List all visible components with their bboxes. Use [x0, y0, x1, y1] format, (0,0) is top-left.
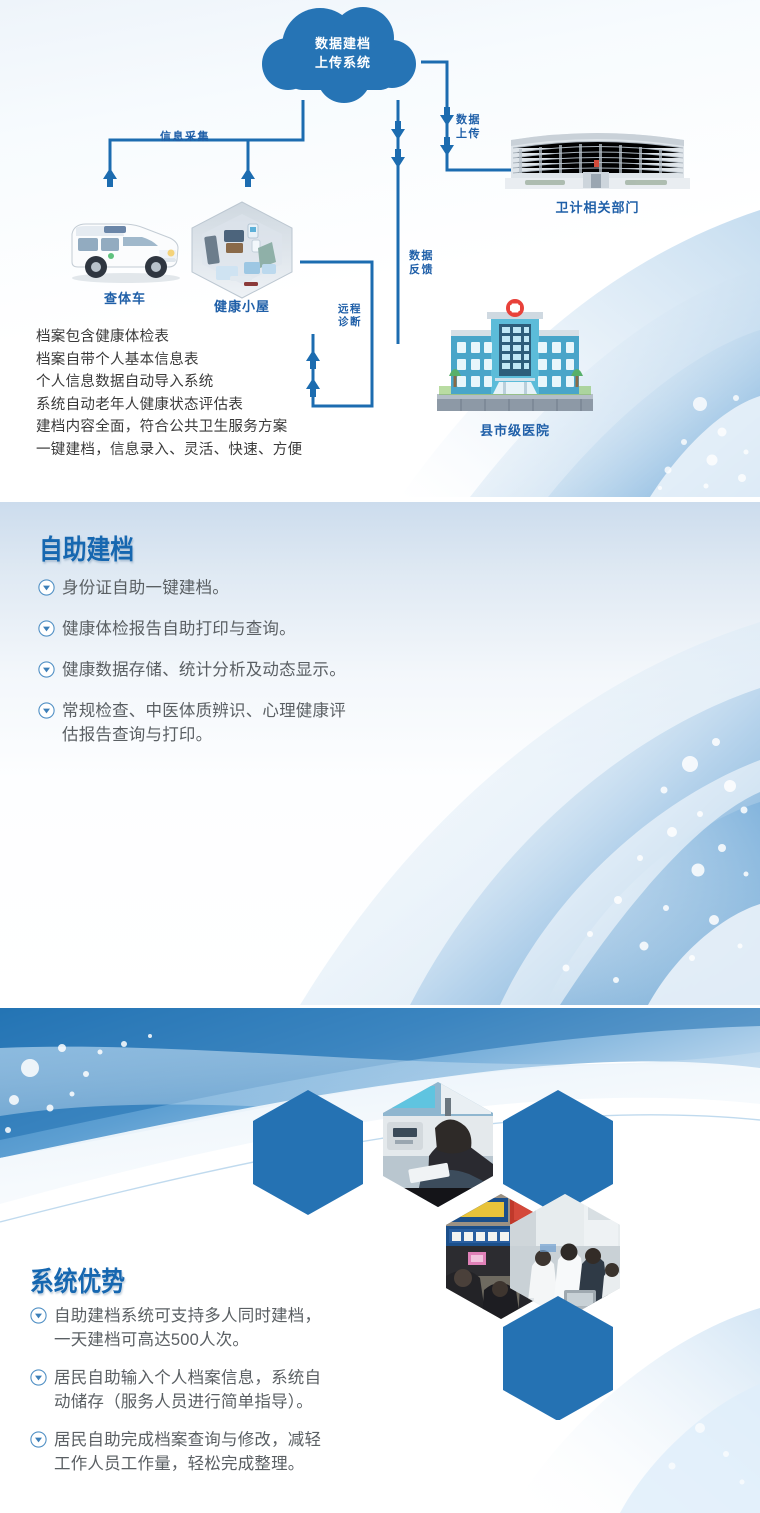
- flow-label-upload-line1: 数据: [456, 113, 481, 127]
- chevron-down-circle-icon: [38, 620, 55, 637]
- list-item: 居民自助输入个人档案信息，系统自 动储存（服务人员进行简单指导）。: [30, 1366, 450, 1414]
- feature-item: 个人信息数据自动导入系统: [36, 371, 436, 394]
- flow-label-collect: 信息采集: [160, 130, 210, 144]
- list-item-label: 自助建档系统可支持多人同时建档， 一天建档可高达500人次。: [54, 1304, 321, 1352]
- node-label-hospital: 县市级医院: [425, 420, 605, 439]
- list-item: 健康体检报告自助打印与查询。: [38, 617, 488, 641]
- section-title-self-service: 自助建档: [39, 528, 134, 567]
- chevron-down-circle-icon: [38, 661, 55, 678]
- feature-item: 一键建档，信息录入、灵活、快速、方便: [36, 439, 436, 462]
- cloud-label-line2: 上传系统: [263, 53, 423, 72]
- node-image-gov-building: [505, 122, 690, 192]
- cloud-label: 数据建档 上传系统: [263, 34, 423, 72]
- section-title-advantages: 系统优势: [30, 1260, 125, 1299]
- flow-label-upload-line2: 上传: [456, 127, 481, 141]
- list-item-label: 居民自助输入个人档案信息，系统自 动储存（服务人员进行简单指导）。: [54, 1366, 321, 1414]
- list-item: 健康数据存储、统计分析及动态显示。: [38, 658, 488, 682]
- list-item-label: 常规检查、中医体质辨识、心理健康评 估报告查询与打印。: [62, 699, 346, 747]
- flow-label-feedback-line1: 数据: [409, 249, 434, 263]
- list-item: 身份证自助一键建档。: [38, 576, 488, 600]
- chevron-down-circle-icon: [38, 702, 55, 719]
- node-label-van: 查体车: [64, 288, 186, 307]
- list-item-label: 健康体检报告自助打印与查询。: [62, 617, 296, 641]
- list-item-label: 健康数据存储、统计分析及动态显示。: [62, 658, 346, 682]
- chevron-down-circle-icon: [30, 1431, 47, 1448]
- flow-label-feedback: 数据 反馈: [409, 249, 434, 277]
- section-advantages: 系统优势 自助建档系统可支持多人同时建档， 一天建档可高达500人次。 居民自助…: [0, 1008, 760, 1513]
- chevron-down-circle-icon: [30, 1369, 47, 1386]
- node-image-hospital: [425, 298, 605, 416]
- poster-page: 数据建档 上传系统 信息采集 数据 上传 数据 反馈 远程 诊断: [0, 0, 760, 1513]
- list-item-label: 居民自助完成档案查询与修改，减轻 工作人员工作量，轻松完成整理。: [54, 1428, 321, 1476]
- flow-label-upload: 数据 上传: [456, 113, 481, 141]
- section-flow-diagram: 数据建档 上传系统 信息采集 数据 上传 数据 反馈 远程 诊断: [0, 0, 760, 497]
- list-item: 居民自助完成档案查询与修改，减轻 工作人员工作量，轻松完成整理。: [30, 1428, 450, 1476]
- chevron-down-circle-icon: [30, 1307, 47, 1324]
- node-image-health-hut: [186, 200, 298, 300]
- feature-item: 档案自带个人基本信息表: [36, 349, 436, 372]
- feature-list: 档案包含健康体检表 档案自带个人基本信息表 个人信息数据自动导入系统 系统自动老…: [36, 326, 436, 462]
- cloud-label-line1: 数据建档: [263, 34, 423, 53]
- chevron-down-circle-icon: [38, 579, 55, 596]
- node-label-gov-building: 卫计相关部门: [505, 197, 690, 216]
- flow-label-remote-line1: 远程: [338, 303, 362, 316]
- list-item-label: 身份证自助一键建档。: [62, 576, 229, 600]
- bullet-list-self-service: 身份证自助一键建档。 健康体检报告自助打印与查询。 健康数据存储、统计分析及动态…: [38, 576, 488, 764]
- flow-label-feedback-line2: 反馈: [409, 263, 434, 277]
- node-label-health-hut: 健康小屋: [186, 296, 298, 315]
- list-item: 自助建档系统可支持多人同时建档， 一天建档可高达500人次。: [30, 1304, 450, 1352]
- feature-item: 建档内容全面，符合公共卫生服务方案: [36, 416, 436, 439]
- node-image-van: [64, 212, 186, 284]
- feature-item: 系统自动老年人健康状态评估表: [36, 394, 436, 417]
- feature-item: 档案包含健康体检表: [36, 326, 436, 349]
- list-item: 常规检查、中医体质辨识、心理健康评 估报告查询与打印。: [38, 699, 488, 747]
- section-self-service: 自助建档 身份证自助一键建档。 健康体检报告自助打印与查询。 健康数据存储、统计…: [0, 502, 760, 1005]
- bullet-list-advantages: 自助建档系统可支持多人同时建档， 一天建档可高达500人次。 居民自助输入个人档…: [30, 1304, 450, 1476]
